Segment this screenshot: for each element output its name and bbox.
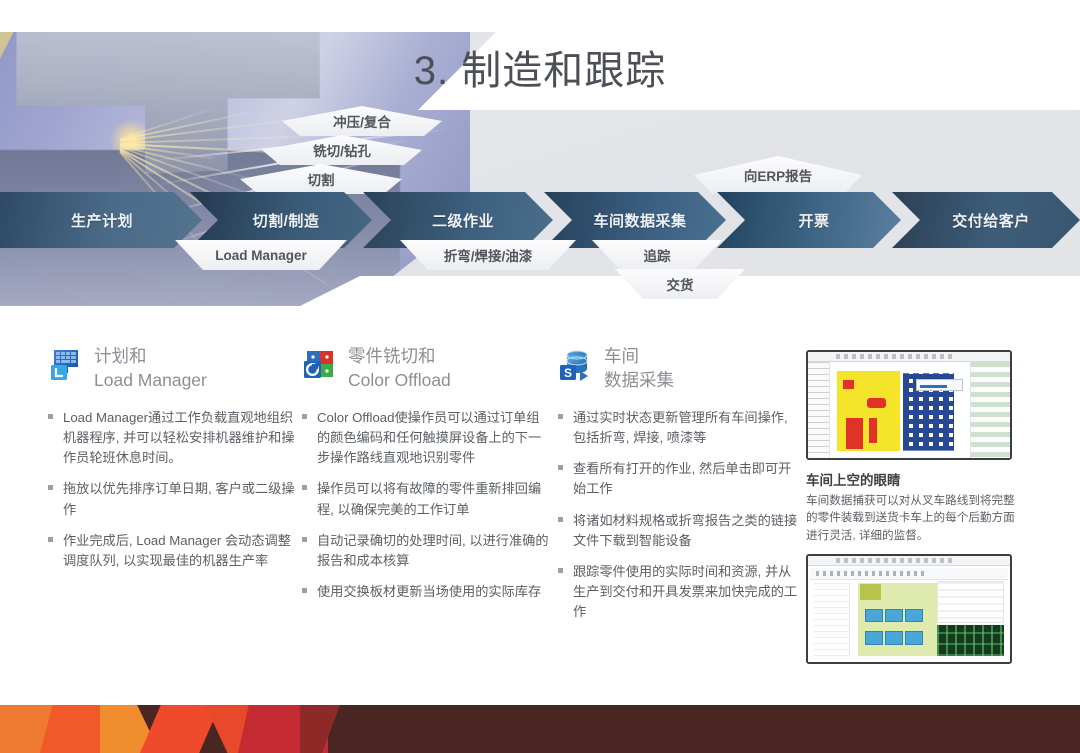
process-flow: 生产计划 切割/制造 二级作业 车间数据采集 开票 交付给客户 bbox=[0, 192, 1080, 248]
flow-below-label-2-text: 追踪 bbox=[644, 245, 671, 265]
list-item: 跟踪零件使用的实际时间和资源, 并从生产到交付和开具发票来加快完成的工作 bbox=[558, 562, 798, 622]
footer-bar bbox=[0, 705, 1080, 753]
list-item: 操作员可以将有故障的零件重新排回编程, 以确保完美的工作订单 bbox=[302, 479, 552, 519]
flow-above-label-3-text: 向ERP报告 bbox=[744, 165, 812, 185]
column-shop-floor-data: S 车间 数据采集 通过实时状态更新管理所有车间操作, 包括折弯, 焊接, 喷漆… bbox=[558, 345, 798, 633]
footer-shape bbox=[300, 705, 340, 753]
column-title: 零件铣切和 Color Offload bbox=[348, 345, 451, 392]
column-title-line1: 计划和 bbox=[94, 345, 207, 369]
slide-root: 3. 制造和跟踪 冲压/复合 铣切/钻孔 切割 向ERP报告 生产计划 切割/制… bbox=[0, 0, 1080, 753]
flow-step-4-label: 开票 bbox=[788, 210, 829, 231]
shop-floor-data-icon: S bbox=[558, 347, 594, 383]
flow-step-0[interactable]: 生产计划 bbox=[0, 192, 202, 248]
flow-step-3-label: 车间数据采集 bbox=[583, 210, 686, 231]
screenshot-titlebar bbox=[808, 556, 1010, 566]
screenshot-body bbox=[808, 362, 1010, 458]
flow-step-4[interactable]: 开票 bbox=[717, 192, 901, 248]
list-item: 查看所有打开的作业, 然后单击即可开始工作 bbox=[558, 459, 798, 499]
flow-below-label-3-text: 交货 bbox=[667, 274, 694, 294]
list-item: 通过实时状态更新管理所有车间操作, 包括折弯, 焊接, 喷漆等 bbox=[558, 408, 798, 448]
flow-below-label-0: Load Manager bbox=[175, 240, 347, 270]
screenshot-left-pane bbox=[808, 362, 830, 458]
column-header: S 车间 数据采集 bbox=[558, 345, 798, 392]
column-title-line2: Color Offload bbox=[348, 369, 451, 393]
screenshot-canvas bbox=[808, 566, 1010, 662]
flow-step-5[interactable]: 交付给客户 bbox=[892, 192, 1080, 248]
flow-step-0-label: 生产计划 bbox=[61, 210, 133, 231]
list-item: Color Offload使操作员可以通过订单组的颜色编码和任何触摸屏设备上的下… bbox=[302, 408, 552, 468]
column-title-line2: 数据采集 bbox=[604, 369, 674, 393]
shop-floor-layout-screenshot[interactable] bbox=[806, 554, 1012, 664]
flow-step-1-label: 切割/制造 bbox=[243, 210, 320, 231]
list-item: Load Manager通过工作负载直观地组织机器程序, 并可以轻松安排机器维护… bbox=[48, 408, 296, 468]
flow-step-3[interactable]: 车间数据采集 bbox=[544, 192, 726, 248]
page-title: 3. 制造和跟踪 bbox=[0, 38, 1080, 96]
column-title: 车间 数据采集 bbox=[604, 345, 674, 392]
column-header: 计划和 Load Manager bbox=[48, 345, 296, 392]
list-item: 将诸如材料规格或折弯报告之类的链接文件下载到智能设备 bbox=[558, 511, 798, 551]
list-item: 作业完成后, Load Manager 会动态调整调度队列, 以实现最佳的机器生… bbox=[48, 531, 296, 571]
column-header: 零件铣切和 Color Offload bbox=[302, 345, 552, 392]
column-title-line1: 车间 bbox=[604, 345, 674, 369]
nesting-layout bbox=[832, 366, 968, 456]
flow-step-2[interactable]: 二级作业 bbox=[363, 192, 553, 248]
list-item: 拖放以优先排序订单日期, 客户或二级操作 bbox=[48, 479, 296, 519]
column-load-manager: 计划和 Load Manager Load Manager通过工作负载直观地组织… bbox=[48, 345, 296, 582]
flow-above-label-1-text: 铣切/钻孔 bbox=[313, 140, 371, 160]
bullet-list: 通过实时状态更新管理所有车间操作, 包括折弯, 焊接, 喷漆等 查看所有打开的作… bbox=[558, 408, 798, 622]
flow-below-label-0-text: Load Manager bbox=[215, 248, 307, 263]
flow-above-label-0-text: 冲压/复合 bbox=[333, 111, 391, 131]
floor-plan bbox=[810, 568, 1008, 660]
list-item: 使用交换板材更新当场使用的实际库存 bbox=[302, 582, 552, 602]
screenshot-body bbox=[808, 566, 1010, 662]
bullet-list: Color Offload使操作员可以通过订单组的颜色编码和任何触摸屏设备上的下… bbox=[302, 408, 552, 602]
column-title-line2: Load Manager bbox=[94, 369, 207, 393]
flow-below-label-1: 折弯/焊接/油漆 bbox=[400, 240, 576, 270]
list-item: 自动记录确切的处理时间, 以进行准确的报告和成本核算 bbox=[302, 531, 552, 571]
screenshot-caption-body: 车间数据捕获可以对从叉车路线到将完整的零件装载到送货卡车上的每个后勤方面进行灵活… bbox=[806, 492, 1018, 544]
column-title-line1: 零件铣切和 bbox=[348, 345, 451, 369]
column-color-offload: 零件铣切和 Color Offload Color Offload使操作员可以通… bbox=[302, 345, 552, 613]
column-title: 计划和 Load Manager bbox=[94, 345, 207, 392]
nesting-screenshot[interactable] bbox=[806, 350, 1012, 460]
screenshot-right-pane bbox=[970, 362, 1010, 458]
screenshot-caption-title: 车间上空的眼睛 bbox=[806, 469, 1018, 489]
flow-step-5-label: 交付给客户 bbox=[942, 210, 1030, 231]
flow-above-label-2-text: 切割 bbox=[308, 169, 335, 189]
load-manager-icon bbox=[48, 347, 84, 383]
bullet-list: Load Manager通过工作负载直观地组织机器程序, 并可以轻松安排机器维护… bbox=[48, 408, 296, 570]
footer-shape bbox=[140, 705, 220, 753]
screenshot-canvas bbox=[830, 362, 970, 458]
screenshot-titlebar bbox=[808, 352, 1010, 362]
screenshot-panel: 车间上空的眼睛 车间数据捕获可以对从叉车路线到将完整的零件装载到送货卡车上的每个… bbox=[806, 350, 1018, 664]
flow-step-2-label: 二级作业 bbox=[422, 210, 494, 231]
flow-below-label-1-text: 折弯/焊接/油漆 bbox=[444, 245, 533, 265]
flow-step-1[interactable]: 切割/制造 bbox=[190, 192, 372, 248]
color-offload-icon bbox=[302, 347, 338, 383]
svg-text:S: S bbox=[564, 366, 572, 380]
